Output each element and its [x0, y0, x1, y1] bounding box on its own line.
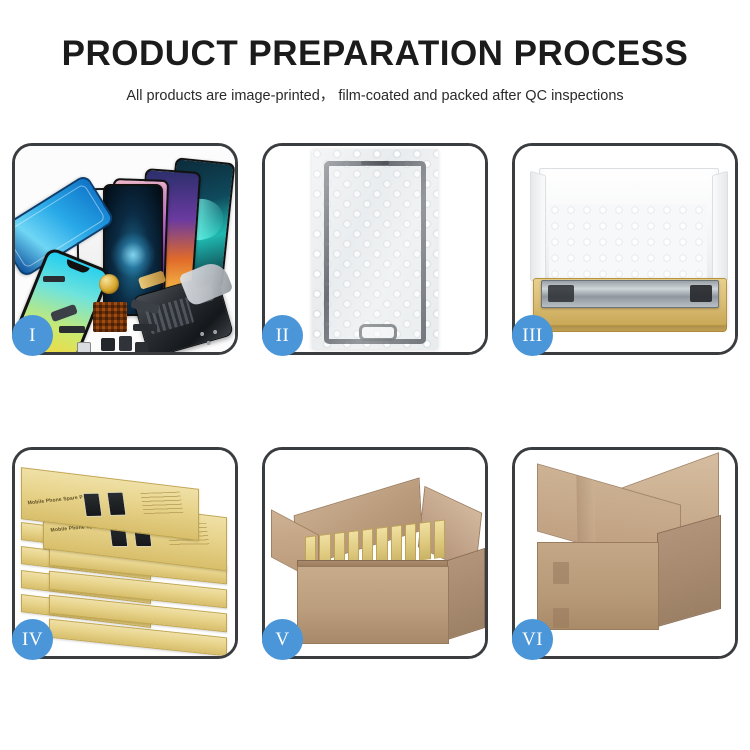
page-title: PRODUCT PREPARATION PROCESS: [0, 36, 750, 73]
carton-side-face-icon: [447, 548, 485, 640]
small-part-square-1: [101, 338, 115, 351]
mesh-part-icon: [93, 302, 127, 332]
content-box: [419, 521, 430, 562]
step-badge-6: VI: [512, 619, 553, 660]
camera-lens-part-icon: [99, 274, 119, 294]
step-badge-3: III: [512, 315, 553, 356]
content-box: [434, 519, 445, 560]
page-header: PRODUCT PREPARATION PROCESS All products…: [0, 0, 750, 105]
box-thumbnail-2: [106, 492, 126, 516]
process-step-panel-3: III: [512, 143, 738, 355]
small-part-square-3: [135, 342, 148, 352]
step-badge-5: V: [262, 619, 303, 660]
bubble-wrap-icon: [312, 149, 438, 349]
box-spec-lines-1: [141, 492, 184, 516]
foam-padding-icon: [549, 204, 707, 286]
packed-screen-icon: [541, 280, 719, 308]
screws-icon: [197, 328, 223, 348]
carton-front-face-icon: [297, 566, 449, 644]
sealed-carton-side-face: [657, 515, 721, 627]
step-badge-4: IV: [12, 619, 53, 660]
process-step-panel-4: Mobile Phone Spare Parts Mobile Phone Sp…: [12, 447, 238, 659]
process-step-panel-2: II: [262, 143, 488, 355]
wrapped-screen-outline: [324, 161, 426, 344]
small-part-bar-2: [59, 326, 85, 333]
process-step-panel-6: VI: [512, 447, 738, 659]
small-part-bar-3: [133, 324, 157, 331]
small-part-square-2: [119, 336, 132, 351]
box-thumbnail-1: [82, 493, 102, 517]
product-preparation-page: PRODUCT PREPARATION PROCESS All products…: [0, 0, 750, 750]
carton-tab-2: [553, 608, 569, 628]
home-button-outline: [359, 324, 397, 341]
process-step-panel-1: I: [12, 143, 238, 355]
process-step-panel-5: V: [262, 447, 488, 659]
content-box: [405, 523, 416, 564]
carton-tab-1: [553, 562, 569, 584]
sim-tray-part-icon: [77, 342, 91, 352]
step-badge-1: I: [12, 315, 53, 356]
process-step-grid: I II: [12, 143, 738, 659]
step-badge-2: II: [262, 315, 303, 356]
small-part-bar-1: [43, 276, 65, 282]
page-subtitle: All products are image-printed， film-coa…: [0, 84, 750, 105]
